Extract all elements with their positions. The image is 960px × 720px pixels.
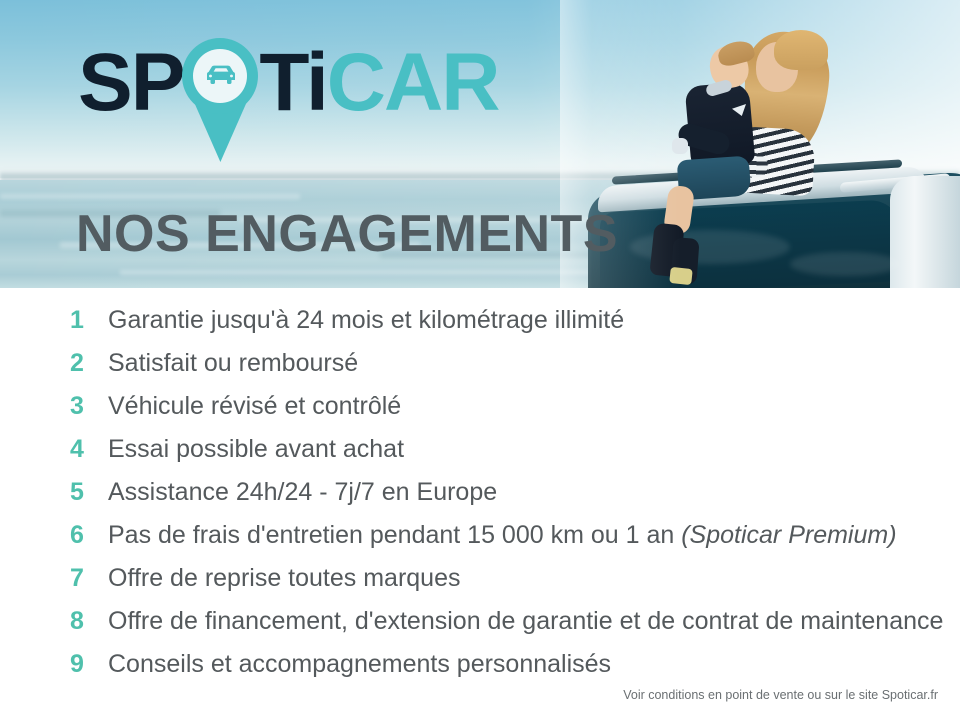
- logo-text-ti: Ti: [259, 44, 326, 122]
- commitment-text: Conseils et accompagnements personnalisé…: [108, 650, 611, 679]
- child-cuff: [672, 138, 688, 154]
- commitment-number: 1: [66, 306, 108, 335]
- list-item: 9 Conseils et accompagnements personnali…: [66, 650, 946, 693]
- commitment-number: 5: [66, 478, 108, 507]
- list-item: 7 Offre de reprise toutes marques: [66, 564, 946, 607]
- car-reflection: [790, 252, 900, 276]
- commitments-list: 1 Garantie jusqu'à 24 mois et kilométrag…: [66, 306, 946, 693]
- commitment-number: 8: [66, 607, 108, 636]
- child-boot-sole: [669, 267, 693, 285]
- page-title: NOS ENGAGEMENTS: [76, 205, 618, 263]
- logo-text-car: CAR: [327, 44, 499, 122]
- commitment-text: Essai possible avant achat: [108, 435, 404, 464]
- sea-streak: [0, 194, 300, 199]
- spoticar-commitments-page: SP Ti CAR NOS ENGAGEMENTS 1 Garantie jus…: [0, 0, 960, 720]
- commitment-number: 6: [66, 521, 108, 550]
- hero-banner: SP Ti CAR NOS ENGAGEMENTS: [0, 0, 960, 288]
- list-item: 5 Assistance 24h/24 - 7j/7 en Europe: [66, 478, 946, 521]
- list-item: 6 Pas de frais d'entretien pendant 15 00…: [66, 521, 946, 564]
- commitment-number: 4: [66, 435, 108, 464]
- list-item: 8 Offre de financement, d'extension de g…: [66, 607, 946, 650]
- woman-hair-top: [774, 30, 828, 70]
- car-pillar: [890, 176, 960, 288]
- family-on-car-photo: [560, 0, 960, 288]
- list-item: 2 Satisfait ou remboursé: [66, 349, 946, 392]
- commitment-number: 2: [66, 349, 108, 378]
- commitment-text: Garantie jusqu'à 24 mois et kilométrage …: [108, 306, 624, 335]
- spoticar-logo[interactable]: SP Ti CAR: [78, 44, 498, 122]
- car-glyph-icon: [201, 62, 241, 90]
- commitment-text: Satisfait ou remboursé: [108, 349, 358, 378]
- list-item: 1 Garantie jusqu'à 24 mois et kilométrag…: [66, 306, 946, 349]
- sea-streak: [120, 270, 600, 275]
- commitment-number: 7: [66, 564, 108, 593]
- commitment-number: 3: [66, 392, 108, 421]
- commitment-text: Pas de frais d'entretien pendant 15 000 …: [108, 521, 897, 550]
- commitment-number: 9: [66, 650, 108, 679]
- map-pin-car-icon: [177, 38, 263, 163]
- commitment-text: Offre de financement, d'extension de gar…: [108, 607, 943, 636]
- commitment-text: Véhicule révisé et contrôlé: [108, 392, 401, 421]
- commitment-text: Assistance 24h/24 - 7j/7 en Europe: [108, 478, 497, 507]
- legal-disclaimer: Voir conditions en point de vente ou sur…: [623, 688, 938, 702]
- list-item: 3 Véhicule révisé et contrôlé: [66, 392, 946, 435]
- list-item: 4 Essai possible avant achat: [66, 435, 946, 478]
- logo-text-sp: SP: [78, 44, 183, 122]
- commitment-text: Offre de reprise toutes marques: [108, 564, 461, 593]
